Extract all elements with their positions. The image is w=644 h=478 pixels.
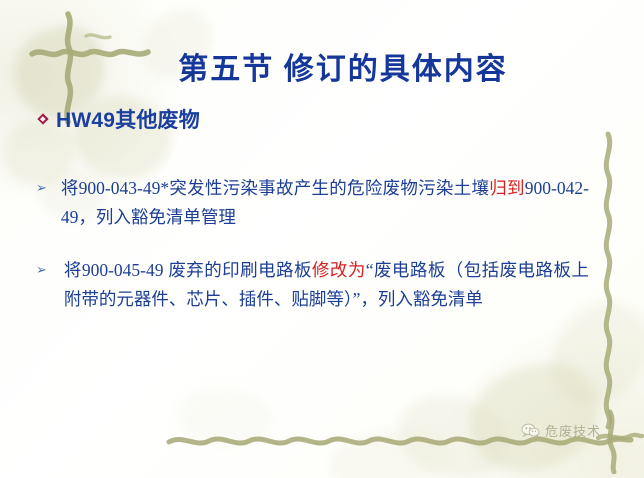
watermark-label: 危废技术 xyxy=(545,421,601,440)
brush-corner-cross xyxy=(596,408,644,474)
bullet-segment: 将900-045-49 废弃的印刷电路板 xyxy=(64,260,312,280)
bullet-item: ➢ 将900-045-49 废弃的印刷电路板修改为“废电路板（包括废电路板上附带… xyxy=(36,256,616,314)
page-title: 第五节 修订的具体内容 xyxy=(0,44,644,88)
slide-canvas: 第五节 修订的具体内容 HW49其他废物 ➢ 将900-043-49*突发性污染… xyxy=(0,0,644,478)
floral-blob xyxy=(327,424,453,478)
sub-heading: HW49其他废物 xyxy=(37,104,200,134)
wechat-icon xyxy=(521,423,540,438)
bullet-text: 将900-043-49*突发性污染事故产生的危险废物污染土壤归到900-042-… xyxy=(61,174,589,232)
floral-blob xyxy=(388,383,517,478)
bullet-item: ➢ 将900-043-49*突发性污染事故产生的危险废物污染土壤归到900-04… xyxy=(36,174,606,232)
arrow-bullet-icon: ➢ xyxy=(36,174,47,194)
arrow-bullet-icon: ➢ xyxy=(36,256,47,276)
bullet-text: 将900-045-49 废弃的印刷电路板修改为“废电路板（包括废电路板上附带的元… xyxy=(64,256,589,314)
floral-blob xyxy=(172,380,277,456)
diamond-bullet-icon xyxy=(37,113,49,125)
floral-blob xyxy=(461,354,610,478)
bullet-segment: 将900-043-49*突发性污染事故产生的危险废物污染土壤 xyxy=(61,178,489,198)
watermark: 危废技术 xyxy=(521,421,601,440)
bullet-segment-highlight: 修改为 xyxy=(312,260,366,280)
bullet-segment-highlight: 归到 xyxy=(489,178,525,198)
sub-heading-label: HW49其他废物 xyxy=(56,104,200,134)
